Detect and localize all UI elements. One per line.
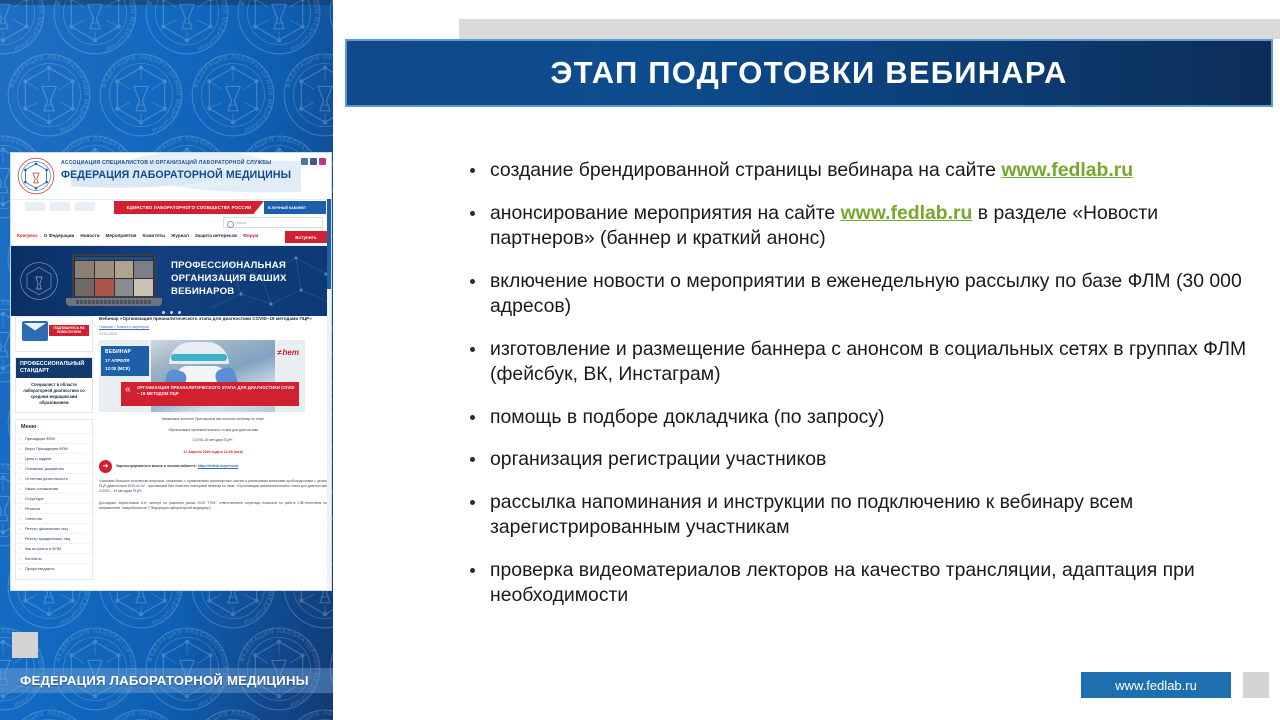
- search-icon: [227, 221, 234, 228]
- side-menu-item[interactable]: Президиум ФЛМ: [16, 433, 92, 443]
- svg-text:ФЕДЕРАЦИЯ ЛАБОРАТОРНОЙ МЕДИЦИН: ФЕДЕРАЦИЯ ЛАБОРАТОРНОЙ МЕДИЦИНЫ: [9, 710, 91, 720]
- bullet-item: анонсирование мероприятия на сайте www.f…: [462, 201, 1262, 252]
- side-menu-item[interactable]: Членство: [16, 513, 92, 523]
- bullet-text: создание брендированной страницы вебинар…: [490, 158, 1262, 184]
- arrow-right-icon: ➔: [99, 460, 112, 473]
- subscribe-label[interactable]: ПОДПИШИТЕСЬ НА НОВОСТИ ФЛМ: [49, 325, 89, 336]
- sponsor-logo: hem: [277, 348, 299, 357]
- search-placeholder: Поиск...: [235, 220, 249, 225]
- site-association-line: АССОЦИАЦИЯ СПЕЦИАЛИСТОВ И ОРГАНИЗАЦИЙ ЛА…: [61, 160, 271, 166]
- watermark-logo-icon: ФЕДЕРАЦИЯ ЛАБОРАТОРНОЙ МЕДИЦИНЫ: [52, 0, 138, 56]
- newsletter-subscribe-card[interactable]: ПОДПИШИТЕСЬ НА НОВОСТИ ФЛМ: [15, 316, 93, 352]
- envelope-icon: [22, 321, 48, 341]
- sidebar-caption: ФЕДЕРАЦИЯ ЛАБОРАТОРНОЙ МЕДИЦИНЫ: [20, 673, 309, 688]
- page-title: ЭТАП ПОДГОТОВКИ ВЕБИНАРА: [550, 55, 1067, 91]
- watermark-logo-icon: ФЕДЕРАЦИЯ ЛАБОРАТОРНОЙ МЕДИЦИНЫ: [282, 708, 333, 720]
- ppe-goggles: [171, 354, 227, 361]
- watermark-logo-icon: ФЕДЕРАЦИЯ ЛАБОРАТОРНОЙ МЕДИЦИНЫ: [0, 0, 46, 56]
- side-menu-item[interactable]: Реестр физических лиц: [16, 523, 92, 533]
- poster-date: 17 АПРЕЛЯ: [105, 358, 145, 363]
- site-nav-item[interactable]: Конгресс: [17, 233, 38, 238]
- bullet-item: создание брендированной страницы вебинар…: [462, 158, 1262, 184]
- video-tile: [75, 279, 94, 296]
- watermark-logo-icon: ФЕДЕРАЦИЯ ЛАБОРАТОРНОЙ МЕДИЦИНЫ: [144, 0, 230, 56]
- partner-logo: [75, 202, 95, 211]
- placeholder-square-right: [1243, 672, 1269, 698]
- side-menu-item[interactable]: Контакты: [16, 553, 92, 563]
- svg-text:ФЕДЕРАЦИЯ ЛАБОРАТОРНОЙ МЕДИЦИН: ФЕДЕРАЦИЯ ЛАБОРАТОРНОЙ МЕДИЦИНЫ: [101, 710, 183, 720]
- bullet-item: проверка видеоматериалов лекторов на кач…: [462, 558, 1262, 609]
- site-left-column: ПОДПИШИТЕСЬ НА НОВОСТИ ФЛМ ПРОФЕССИОНАЛЬ…: [15, 316, 91, 580]
- article-date: 14.04.2020: [99, 332, 327, 336]
- partner-logo: [25, 202, 45, 211]
- side-menu-item[interactable]: Отчетная деятельность: [16, 473, 92, 483]
- side-menu-item[interactable]: Наши соглашения: [16, 483, 92, 493]
- website-screenshot: АССОЦИАЦИЯ СПЕЦИАЛИСТОВ И ОРГАНИЗАЦИЙ ЛА…: [10, 152, 332, 591]
- laptop-keyboard: [76, 300, 152, 304]
- hero-banner: ПРОФЕССИОНАЛЬНАЯОРГАНИЗАЦИЯ ВАШИХВЕБИНАР…: [11, 246, 331, 316]
- prof-standard-card[interactable]: ПРОФЕССИОНАЛЬНЫЙ СТАНДАРТ Специалист в о…: [15, 357, 93, 413]
- site-nav-item[interactable]: Мероприятия: [106, 233, 137, 238]
- bullet-item: изготовление и размещение баннера с анон…: [462, 337, 1262, 388]
- article-topic-line2: COVID-19 методом ПЦР».: [99, 438, 327, 443]
- article-title: Вебинар «Организация преаналитического э…: [99, 316, 327, 322]
- video-tile: [134, 261, 153, 278]
- article-paragraph: Учитывая большое количество вопросов, св…: [99, 479, 327, 495]
- website-link[interactable]: www.fedlab.ru: [841, 202, 973, 224]
- unity-ribbon: ЕДИНСТВО ЛАБОРАТОРНОГО СООБЩЕСТВА РОССИИ: [114, 201, 264, 214]
- side-menu-item[interactable]: Основные документы: [16, 463, 92, 473]
- webinar-poster: ВЕБИНАР 17 АПРЕЛЯ 12:00 (МСК) hem ОРГАНИ…: [99, 340, 305, 412]
- site-navigation[interactable]: КонгрессО ФедерацииНовостиМероприятияКом…: [11, 230, 331, 246]
- watermark-logo-icon: ФЕДЕРАЦИЯ ЛАБОРАТОРНОЙ МЕДИЦИНЫ: [98, 52, 184, 138]
- video-tile: [115, 279, 134, 296]
- site-article-column: Вебинар «Организация преаналитического э…: [99, 316, 327, 512]
- footer-badge-label: www.fedlab.ru: [1115, 678, 1197, 693]
- video-app-bar: [75, 257, 153, 260]
- bullet-item: организация регистрации участников: [462, 447, 1262, 473]
- bullet-item: рассылка напоминания и инструкции по под…: [462, 490, 1262, 541]
- side-menu-item[interactable]: Структура: [16, 493, 92, 503]
- site-nav-item[interactable]: Новости: [80, 233, 99, 238]
- watermark-logo-icon: ФЕДЕРАЦИЯ ЛАБОРАТОРНОЙ МЕДИЦИНЫ: [282, 52, 333, 138]
- social-links[interactable]: [301, 158, 326, 165]
- site-nav-items[interactable]: КонгрессО ФедерацииНовостиМероприятияКом…: [17, 233, 258, 238]
- article-speaker: Докладчик: Кирпичников А.Н, эксперт по р…: [99, 501, 327, 512]
- bullet-text: рассылка напоминания и инструкции по под…: [490, 490, 1262, 541]
- hero-headline-line: ВЕБИНАРОВ: [171, 285, 287, 298]
- site-search-row: Поиск...: [11, 216, 331, 230]
- side-menu-item[interactable]: Бюро Президиума ФЛМ: [16, 443, 92, 453]
- footer-website-badge[interactable]: www.fedlab.ru: [1081, 672, 1231, 698]
- video-tile: [75, 261, 94, 278]
- side-menu-item[interactable]: Регионы: [16, 503, 92, 513]
- search-input[interactable]: Поиск...: [223, 217, 323, 228]
- watermark-logo-icon: ФЕДЕРАЦИЯ ЛАБОРАТОРНОЙ МЕДИЦИНЫ: [328, 0, 333, 56]
- site-federation-line: ФЕДЕРАЦИЯ ЛАБОРАТОРНОЙ МЕДИЦИНЫ: [61, 169, 291, 181]
- carousel-dot[interactable]: [170, 311, 173, 314]
- poster-date-box: ВЕБИНАР 17 АПРЕЛЯ 12:00 (МСК): [101, 346, 149, 376]
- bullet-item: помощь в подборе докладчика (по запросу): [462, 405, 1262, 431]
- watermark-logo-icon: ФЕДЕРАЦИЯ ЛАБОРАТОРНОЙ МЕДИЦИНЫ: [6, 708, 92, 720]
- watermark-logo-icon: ФЕДЕРАЦИЯ ЛАБОРАТОРНОЙ МЕДИЦИНЫ: [190, 52, 276, 138]
- prof-standard-title: ПРОФЕССИОНАЛЬНЫЙ СТАНДАРТ: [16, 358, 92, 378]
- sidebar-caption-bar: ФЕДЕРАЦИЯ ЛАБОРАТОРНОЙ МЕДИЦИНЫ: [0, 668, 333, 693]
- registration-row[interactable]: ➔ Зарегистрироваться можно в личном каби…: [99, 460, 327, 473]
- video-grid: [75, 261, 153, 296]
- side-menu-title: Меню: [16, 424, 92, 433]
- ppe-hood: [169, 342, 229, 364]
- site-nav-item[interactable]: Комитеты: [142, 233, 165, 238]
- presentation-slide: ФЕДЕРАЦИЯ ЛАБОРАТОРНОЙ МЕДИЦИНЫФЕДЕРАЦИЯ…: [0, 0, 1280, 720]
- svg-text:ФЕДЕРАЦИЯ ЛАБОРАТОРНОЙ МЕДИЦИН: ФЕДЕРАЦИЯ ЛАБОРАТОРНОЙ МЕДИЦИНЫ: [193, 710, 275, 720]
- left-branding-panel: ФЕДЕРАЦИЯ ЛАБОРАТОРНОЙ МЕДИЦИНЫФЕДЕРАЦИЯ…: [0, 0, 333, 720]
- bullet-item: включение новости о мероприятии в еженед…: [462, 269, 1262, 320]
- partner-logos: [25, 202, 95, 211]
- site-nav-item[interactable]: Журнал: [171, 233, 189, 238]
- bullet-text: включение новости о мероприятии в еженед…: [490, 269, 1262, 320]
- facebook-icon[interactable]: [310, 158, 317, 165]
- carousel-dot[interactable]: [162, 311, 165, 314]
- article-when: 17 Апреля 2020 года в 12:00 (мск): [99, 450, 327, 454]
- laptop-graphic: [66, 254, 162, 310]
- watermark-logo-icon: ФЕДЕРАЦИЯ ЛАБОРАТОРНОЙ МЕДИЦИНЫ: [98, 708, 184, 720]
- svg-text:ФЕДЕРАЦИЯ ЛАБОРАТОРНОЙ МЕДИЦИН: ФЕДЕРАЦИЯ ЛАБОРАТОРНОЙ МЕДИЦИНЫ: [285, 710, 333, 720]
- site-header: АССОЦИАЦИЯ СПЕЦИАЛИСТОВ И ОРГАНИЗАЦИЙ ЛА…: [11, 153, 331, 200]
- registration-text: Зарегистрироваться можно в личном кабине…: [116, 464, 238, 468]
- site-content: ПОДПИШИТЕСЬ НА НОВОСТИ ФЛМ ПРОФЕССИОНАЛЬ…: [11, 316, 331, 591]
- registration-label: Зарегистрироваться можно в личном кабине…: [116, 464, 198, 468]
- watermark-logo-icon: ФЕДЕРАЦИЯ ЛАБОРАТОРНОЙ МЕДИЦИНЫ: [236, 0, 322, 56]
- bullet-text: помощь в подборе докладчика (по запросу): [490, 405, 1262, 431]
- site-nav-item[interactable]: Форум: [243, 233, 258, 238]
- scrollbar-thumb[interactable]: [327, 199, 331, 289]
- decorative-gray-bar: [459, 19, 1280, 39]
- personal-cabinet-button[interactable]: В ЛИЧНЫЙ КАБИНЕТ: [264, 201, 326, 214]
- hero-headline: ПРОФЕССИОНАЛЬНАЯОРГАНИЗАЦИЯ ВАШИХВЕБИНАР…: [171, 259, 287, 298]
- site-ribbon-row: ЕДИНСТВО ЛАБОРАТОРНОГО СООБЩЕСТВА РОССИИ…: [11, 200, 331, 216]
- vk-icon[interactable]: [301, 158, 308, 165]
- side-menu-list[interactable]: Президиум ФЛМБюро Президиума ФЛМЦели и з…: [16, 433, 92, 573]
- partner-logo: [50, 202, 70, 211]
- site-side-menu[interactable]: Меню Президиум ФЛМБюро Президиума ФЛМЦел…: [15, 419, 93, 580]
- site-scrollbar[interactable]: [327, 199, 331, 590]
- bullet-text: проверка видеоматериалов лекторов на кач…: [490, 558, 1262, 609]
- video-tile: [95, 261, 114, 278]
- flm-logo-icon: [17, 157, 55, 195]
- breadcrumb[interactable]: Главная > Новости партнеров: [99, 325, 327, 329]
- poster-headline: ОРГАНИЗАЦИЯ ПРЕАНАЛИТИЧЕСКОГО ЭТАПА ДЛЯ …: [121, 382, 299, 406]
- video-tile: [115, 261, 134, 278]
- hero-headline-line: ПРОФЕССИОНАЛЬНАЯ: [171, 259, 287, 272]
- bullet-list: создание брендированной страницы вебинар…: [462, 158, 1262, 626]
- placeholder-square-left: [12, 632, 38, 658]
- bullet-text: анонсирование мероприятия на сайте www.f…: [490, 201, 1262, 252]
- bullet-text: изготовление и размещение баннера с анон…: [490, 337, 1262, 388]
- join-button[interactable]: Вступить: [285, 231, 327, 243]
- article-intro: Уважаемые коллеги! Приглашаем вас посети…: [99, 417, 327, 422]
- bullet-text: организация регистрации участников: [490, 447, 1262, 473]
- side-menu-item[interactable]: Как вступить в ФЛМ: [16, 543, 92, 553]
- website-link[interactable]: www.fedlab.ru: [1001, 159, 1133, 181]
- poster-kicker: ВЕБИНАР: [105, 349, 145, 355]
- instagram-icon[interactable]: [319, 158, 326, 165]
- prof-standard-body: Специалист в области лабораторной диагно…: [16, 378, 92, 412]
- laptop-screen: [72, 254, 156, 298]
- article-topic-line1: «Организация преаналитического этапа для…: [99, 428, 327, 433]
- registration-link[interactable]: https://fedlab.ru/personal: [198, 464, 239, 468]
- site-nav-item[interactable]: Защита интересов: [195, 233, 237, 238]
- side-menu-item[interactable]: Цели и задачи: [16, 453, 92, 463]
- slide-title-banner: ЭТАП ПОДГОТОВКИ ВЕБИНАРА: [345, 39, 1273, 107]
- video-tile: [134, 279, 153, 296]
- watermark-logo-icon: ФЕДЕРАЦИЯ ЛАБОРАТОРНОЙ МЕДИЦИНЫ: [6, 52, 92, 138]
- watermark-logo-icon: ФЕДЕРАЦИЯ ЛАБОРАТОРНОЙ МЕДИЦИНЫ: [190, 708, 276, 720]
- hero-emblem-icon: [19, 261, 59, 301]
- hero-headline-line: ОРГАНИЗАЦИЯ ВАШИХ: [171, 272, 287, 285]
- side-menu-item[interactable]: Реестр юридических лиц: [16, 533, 92, 543]
- carousel-dot[interactable]: [178, 311, 181, 314]
- poster-time: 12:00 (МСК): [105, 366, 145, 371]
- video-tile: [95, 279, 114, 296]
- side-menu-item[interactable]: Профстандарты: [16, 563, 92, 573]
- carousel-dots[interactable]: [11, 311, 331, 314]
- site-nav-item[interactable]: О Федерации: [44, 233, 75, 238]
